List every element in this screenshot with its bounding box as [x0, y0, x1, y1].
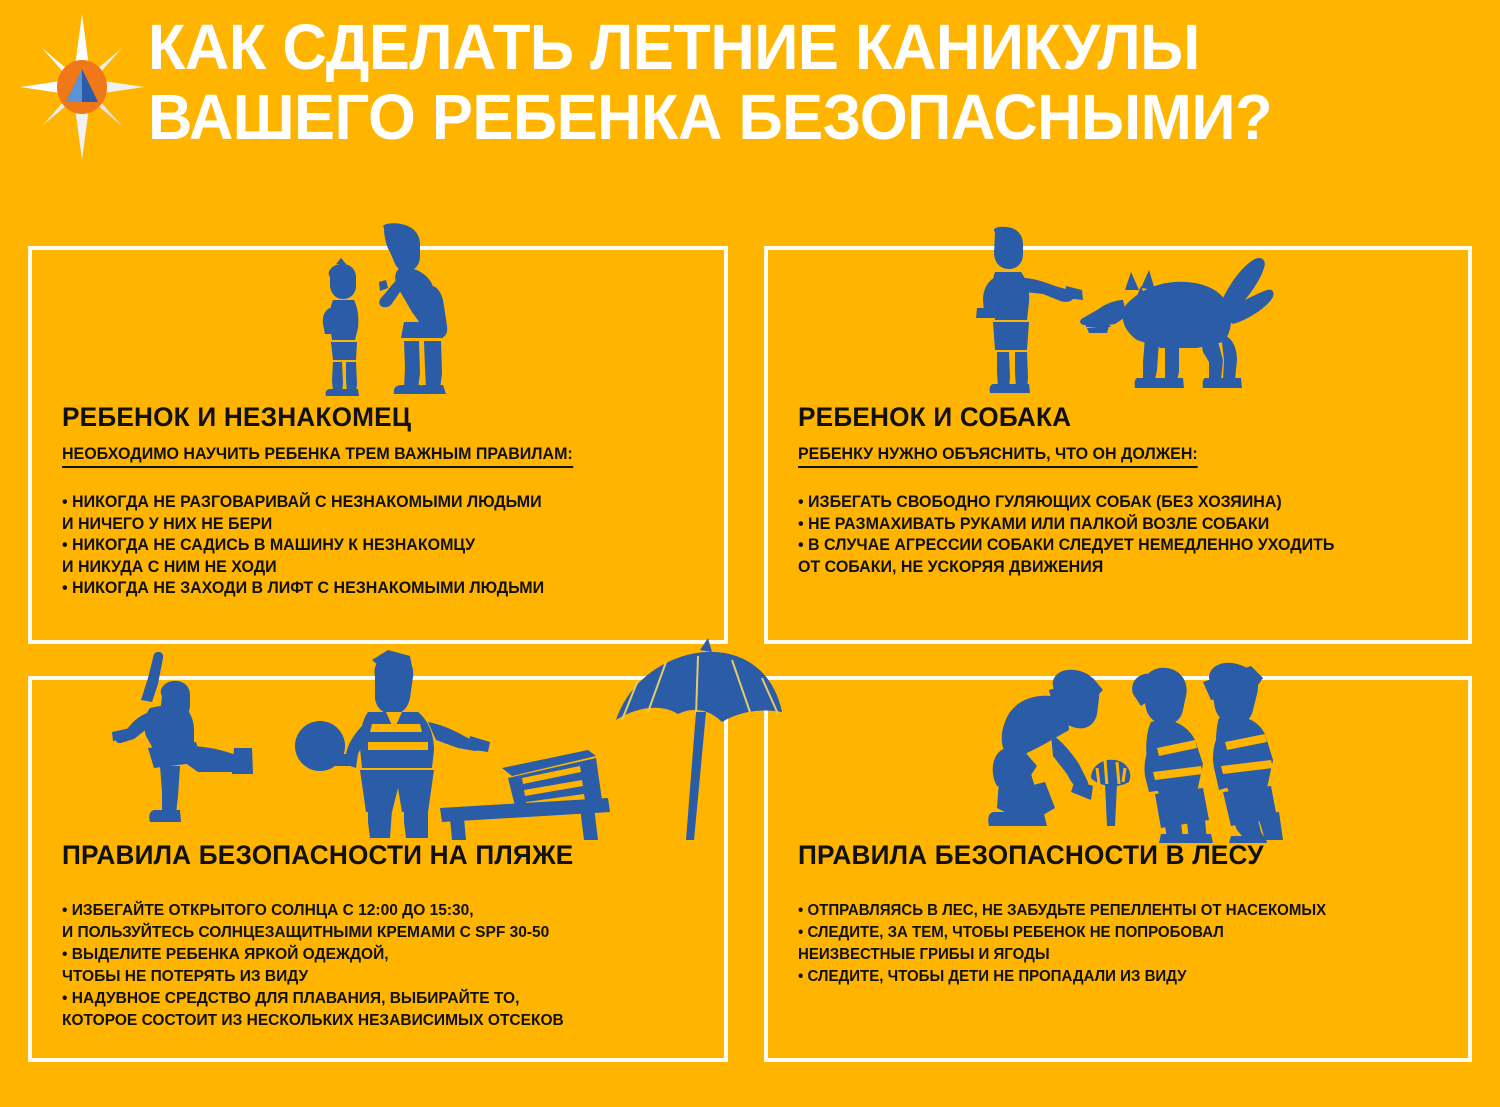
- title-line-2: ВАШЕГО РЕБЕНКА БЕЗОПАСНЫМИ?: [148, 82, 1425, 152]
- list-item: • ВЫДЕЛИТЕ РЕБЕНКА ЯРКОЙ ОДЕЖДОЙ, ЧТОБЫ …: [62, 944, 685, 988]
- list-item: • СЛЕДИТЕ, ЧТОБЫ ДЕТИ НЕ ПРОПАДАЛИ ИЗ ВИ…: [798, 966, 1429, 988]
- title-line-1: КАК СДЕЛАТЬ ЛЕТНИЕ КАНИКУЛЫ: [148, 12, 1425, 82]
- panel-3-heading: ПРАВИЛА БЕЗОПАСНОСТИ НА ПЛЯЖЕ: [62, 840, 685, 870]
- panel-2-subheading: РЕБЕНКУ НУЖНО ОБЪЯСНИТЬ, ЧТО ОН ДОЛЖЕН:: [798, 444, 1198, 468]
- panel-child-and-dog: РЕБЕНОК И СОБАКА РЕБЕНКУ НУЖНО ОБЪЯСНИТЬ…: [764, 246, 1472, 644]
- panel-1-subheading: НЕОБХОДИМО НАУЧИТЬ РЕБЕНКА ТРЕМ ВАЖНЫМ П…: [62, 444, 573, 468]
- panel-3-bullet-list: • ИЗБЕГАЙТЕ ОТКРЫТОГО СОЛНЦА С 12:00 ДО …: [62, 900, 704, 1032]
- panel-child-and-stranger: РЕБЕНОК И НЕЗНАКОМЕЦ НЕОБХОДИМО НАУЧИТЬ …: [28, 246, 728, 644]
- list-item: • ИЗБЕГАТЬ СВОБОДНО ГУЛЯЮЩИХ СОБАК (БЕЗ …: [798, 492, 1429, 514]
- list-item: • НИКОГДА НЕ РАЗГОВАРИВАЙ С НЕЗНАКОМЫМИ …: [62, 492, 685, 535]
- list-item: • НАДУВНОЕ СРЕДСТВО ДЛЯ ПЛАВАНИЯ, ВЫБИРА…: [62, 988, 685, 1032]
- poster-header: КАК СДЕЛАТЬ ЛЕТНИЕ КАНИКУЛЫ ВАШЕГО РЕБЕН…: [0, 0, 1500, 205]
- panel-1-heading: РЕБЕНОК И НЕЗНАКОМЕЦ: [62, 402, 685, 432]
- panel-1-bullet-list: • НИКОГДА НЕ РАЗГОВАРИВАЙ С НЕЗНАКОМЫМИ …: [62, 492, 704, 600]
- poster-title: КАК СДЕЛАТЬ ЛЕТНИЕ КАНИКУЛЫ ВАШЕГО РЕБЕН…: [148, 12, 1478, 152]
- panel-4-heading: ПРАВИЛА БЕЗОПАСНОСТИ В ЛЕСУ: [798, 840, 1429, 870]
- panel-4-bullet-list: • ОТПРАВЛЯЯСЬ В ЛЕС, НЕ ЗАБУДЬТЕ РЕПЕЛЛЕ…: [798, 900, 1448, 988]
- list-item: • НИКОГДА НЕ ЗАХОДИ В ЛИФТ С НЕЗНАКОМЫМИ…: [62, 578, 685, 600]
- emercom-star-logo: [18, 12, 146, 162]
- list-item: • СЛЕДИТЕ, ЗА ТЕМ, ЧТОБЫ РЕБЕНОК НЕ ПОПР…: [798, 922, 1429, 966]
- list-item: • ИЗБЕГАЙТЕ ОТКРЫТОГО СОЛНЦА С 12:00 ДО …: [62, 900, 685, 944]
- list-item: • НИКОГДА НЕ САДИСЬ В МАШИНУ К НЕЗНАКОМЦ…: [62, 535, 685, 578]
- panel-forest-safety: ПРАВИЛА БЕЗОПАСНОСТИ В ЛЕСУ • ОТПРАВЛЯЯС…: [764, 676, 1472, 1062]
- panel-2-heading: РЕБЕНОК И СОБАКА: [798, 402, 1429, 432]
- panel-beach-safety: ПРАВИЛА БЕЗОПАСНОСТИ НА ПЛЯЖЕ • ИЗБЕГАЙТ…: [28, 676, 728, 1062]
- panel-2-bullet-list: • ИЗБЕГАТЬ СВОБОДНО ГУЛЯЮЩИХ СОБАК (БЕЗ …: [798, 492, 1448, 578]
- list-item: • НЕ РАЗМАХИВАТЬ РУКАМИ ИЛИ ПАЛКОЙ ВОЗЛЕ…: [798, 514, 1429, 536]
- list-item: • ОТПРАВЛЯЯСЬ В ЛЕС, НЕ ЗАБУДЬТЕ РЕПЕЛЛЕ…: [798, 900, 1429, 922]
- list-item: • В СЛУЧАЕ АГРЕССИИ СОБАКИ СЛЕДУЕТ НЕМЕД…: [798, 535, 1429, 578]
